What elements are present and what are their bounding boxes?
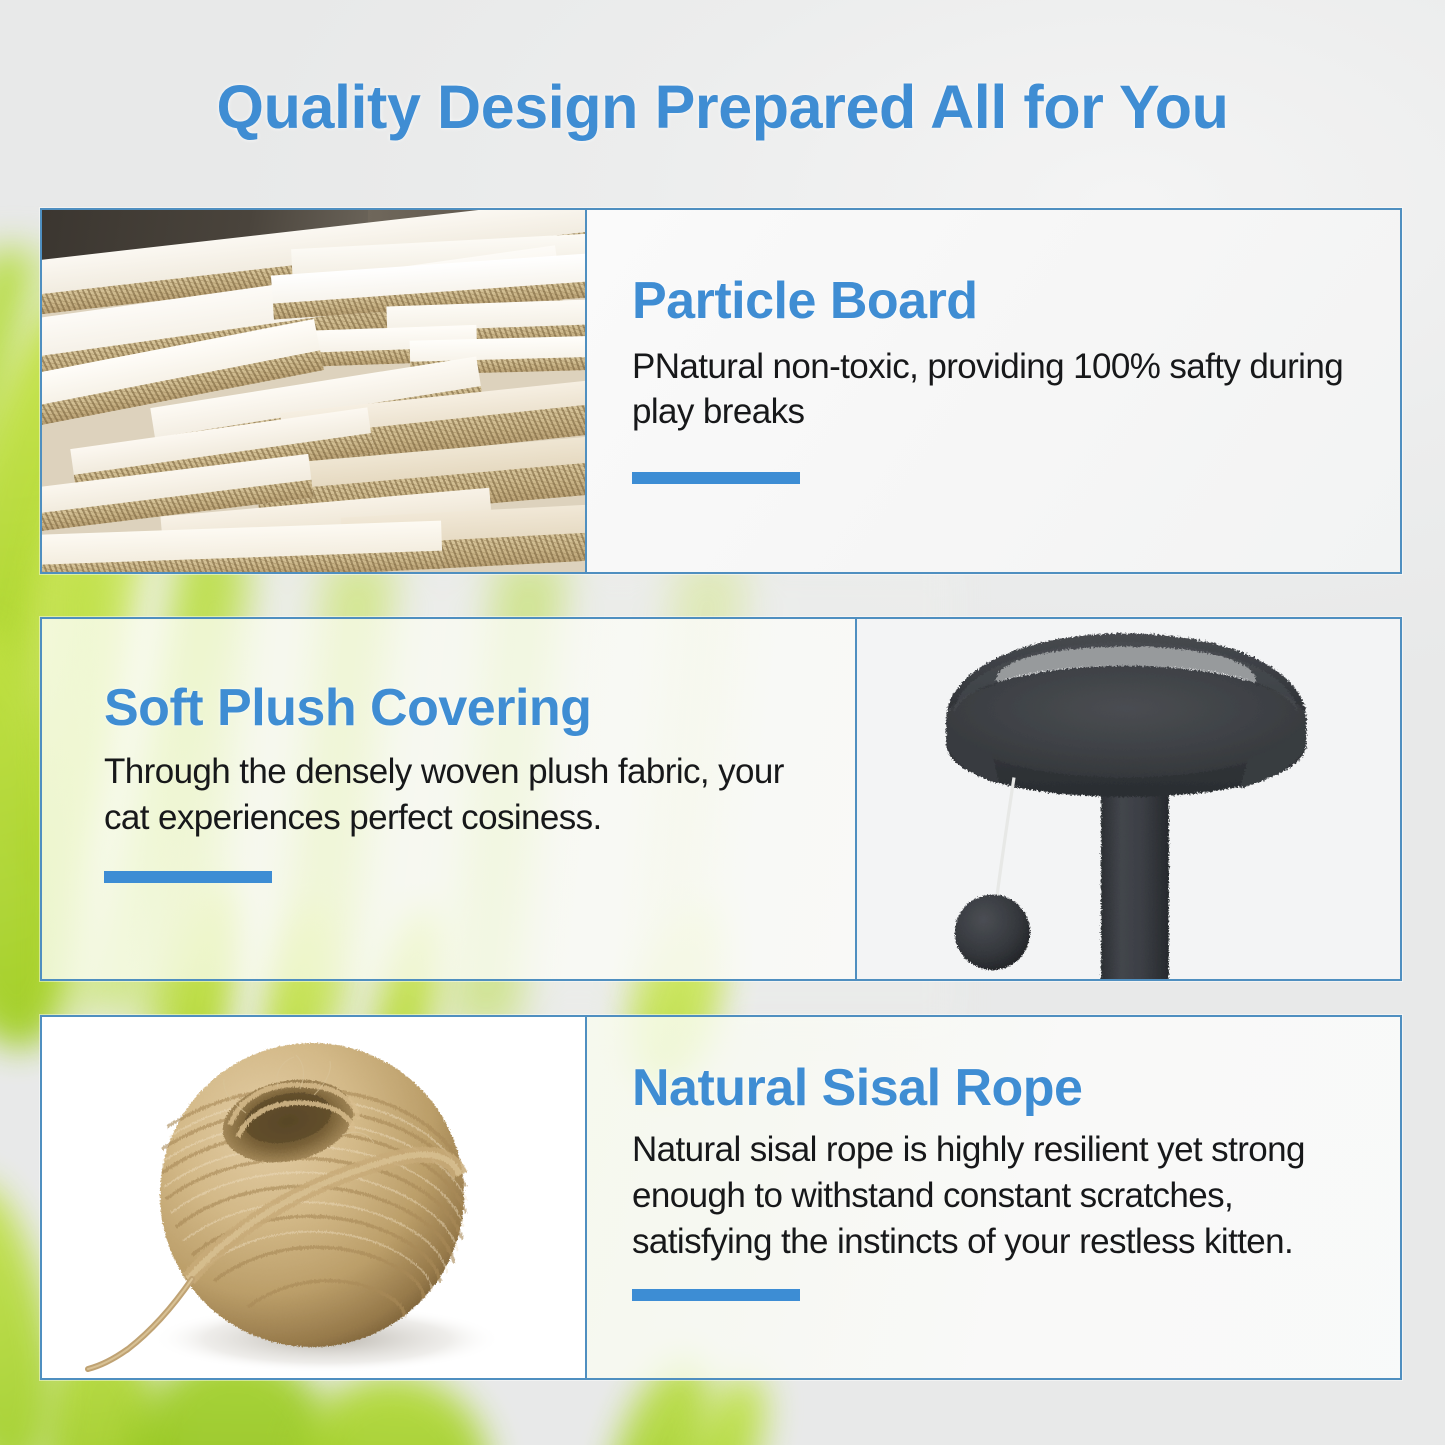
rope-ball-illustration	[42, 1017, 585, 1378]
board-plank	[42, 521, 443, 572]
card-heading: Particle Board	[632, 272, 1400, 330]
feature-card-natural-sisal-rope: Natural Sisal Rope Natural sisal rope is…	[40, 1015, 1402, 1380]
plush-perch-illustration	[857, 619, 1400, 979]
feature-card-soft-plush-covering: Soft Plush Covering Through the densely …	[40, 617, 1402, 981]
sisal-rope-ball-photo	[42, 1017, 585, 1378]
accent-bar	[632, 1289, 800, 1301]
card-body-text: PNatural non-toxic, providing 100% safty…	[632, 344, 1352, 434]
sisal-rope-text-pane: Natural Sisal Rope Natural sisal rope is…	[587, 1017, 1400, 1378]
accent-bar	[632, 472, 800, 484]
soft-plush-text-pane: Soft Plush Covering Through the densely …	[42, 619, 855, 979]
toy-string	[997, 777, 1014, 897]
sisal-rope-image-pane	[42, 1017, 585, 1378]
plush-image-pane	[857, 619, 1400, 979]
pom-pom-ball	[955, 895, 1030, 970]
plush-cat-perch-photo	[857, 619, 1400, 979]
card-heading: Soft Plush Covering	[104, 679, 855, 737]
accent-bar	[104, 871, 272, 883]
particle-board-image-pane	[42, 210, 585, 572]
card-heading: Natural Sisal Rope	[632, 1059, 1400, 1117]
particle-board-stack-photo	[42, 210, 585, 572]
feature-card-particle-board: Particle Board PNatural non-toxic, provi…	[40, 208, 1402, 574]
card-body-text: Natural sisal rope is highly resilient y…	[632, 1127, 1372, 1265]
particle-board-text-pane: Particle Board PNatural non-toxic, provi…	[587, 210, 1400, 572]
card-body-text: Through the densely woven plush fabric, …	[104, 749, 784, 841]
page-title: Quality Design Prepared All for You	[0, 72, 1445, 142]
